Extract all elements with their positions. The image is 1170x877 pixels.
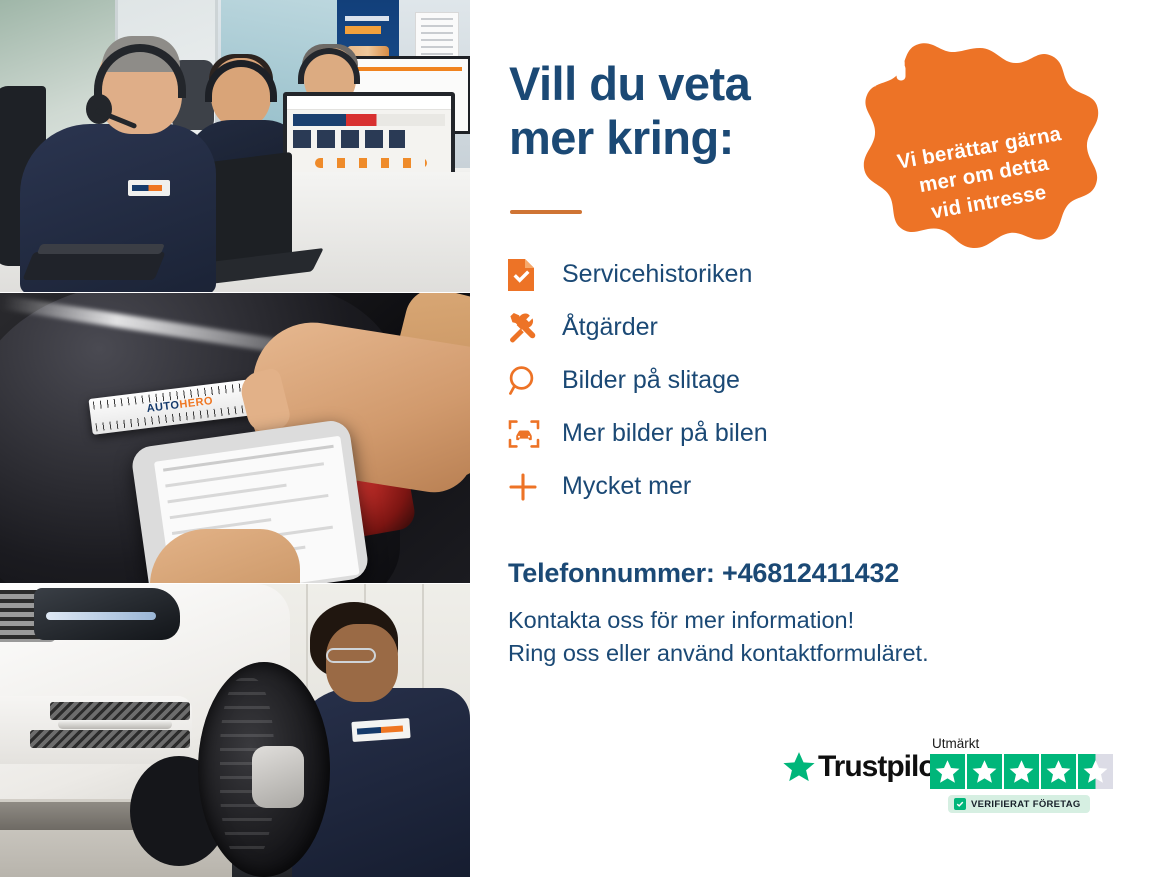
list-item: Mer bilder på bilen: [508, 407, 948, 460]
rating-label: Utmärkt: [932, 736, 1130, 751]
list-item: Åtgärder: [508, 301, 948, 354]
trustpilot-rating: Utmärkt VERIFIERAT FÖRETAG: [930, 736, 1130, 813]
magnifying-glass-icon: [508, 361, 554, 401]
list-item: Servicehistoriken: [508, 248, 948, 301]
star-5-half: [1078, 754, 1113, 789]
star-2: [967, 754, 1002, 789]
content-panel: Vill du veta mer kring: Vi berättar gärn…: [470, 0, 1170, 877]
wrench-screwdriver-icon: [508, 308, 554, 348]
headset-icon: [860, 42, 912, 88]
phone-label: Telefonnummer:: [508, 558, 715, 588]
verified-label: VERIFIERAT FÖRETAG: [971, 799, 1081, 810]
photo-tire-service: [0, 584, 470, 877]
trustpilot-wordmark: Trustpilot: [818, 750, 945, 784]
contact-copy: Kontakta oss för mer information! Ring o…: [508, 604, 929, 671]
list-item: Mycket mer: [508, 460, 948, 513]
page-title: Vill du veta mer kring:: [509, 57, 909, 164]
trustpilot-star-icon: [782, 750, 816, 784]
title-divider: [510, 210, 582, 214]
list-item-label: Åtgärder: [554, 313, 658, 342]
plus-icon: [508, 467, 554, 507]
list-item-label: Mycket mer: [554, 472, 691, 501]
checklist-document-icon: [508, 255, 554, 295]
list-item: Bilder på slitage: [508, 354, 948, 407]
page-title-line-2: mer kring:: [509, 111, 734, 164]
contact-copy-line-2: Ring oss eller använd kontaktformuläret.: [508, 637, 929, 670]
contact-copy-line-1: Kontakta oss för mer information!: [508, 604, 929, 637]
verified-business-badge: VERIFIERAT FÖRETAG: [948, 795, 1090, 813]
star-1: [930, 754, 965, 789]
star-3: [1004, 754, 1039, 789]
photo-customer-service: [0, 0, 470, 292]
car-focus-frame-icon: [508, 414, 554, 454]
phone-line: Telefonnummer: +46812411432: [508, 558, 899, 589]
trustpilot-logo: Trustpilot: [782, 750, 945, 784]
list-item-label: Bilder på slitage: [554, 366, 740, 395]
list-item-label: Servicehistoriken: [554, 260, 752, 289]
star-4: [1041, 754, 1076, 789]
promo-page: AUTOHERO: [0, 0, 1170, 877]
phone-number[interactable]: +46812411432: [722, 558, 899, 588]
photo-column: AUTOHERO: [0, 0, 470, 877]
photo-car-inspection: AUTOHERO: [0, 293, 470, 583]
list-item-label: Mer bilder på bilen: [554, 419, 768, 448]
page-title-line-1: Vill du veta: [509, 57, 750, 110]
feature-list: Servicehistoriken Åtgärder: [508, 248, 948, 513]
trustpilot-widget[interactable]: Trustpilot Utmärkt VERIFIERAT FÖRETAG: [782, 736, 1142, 826]
check-icon: [954, 798, 966, 810]
star-rating: [930, 754, 1130, 789]
